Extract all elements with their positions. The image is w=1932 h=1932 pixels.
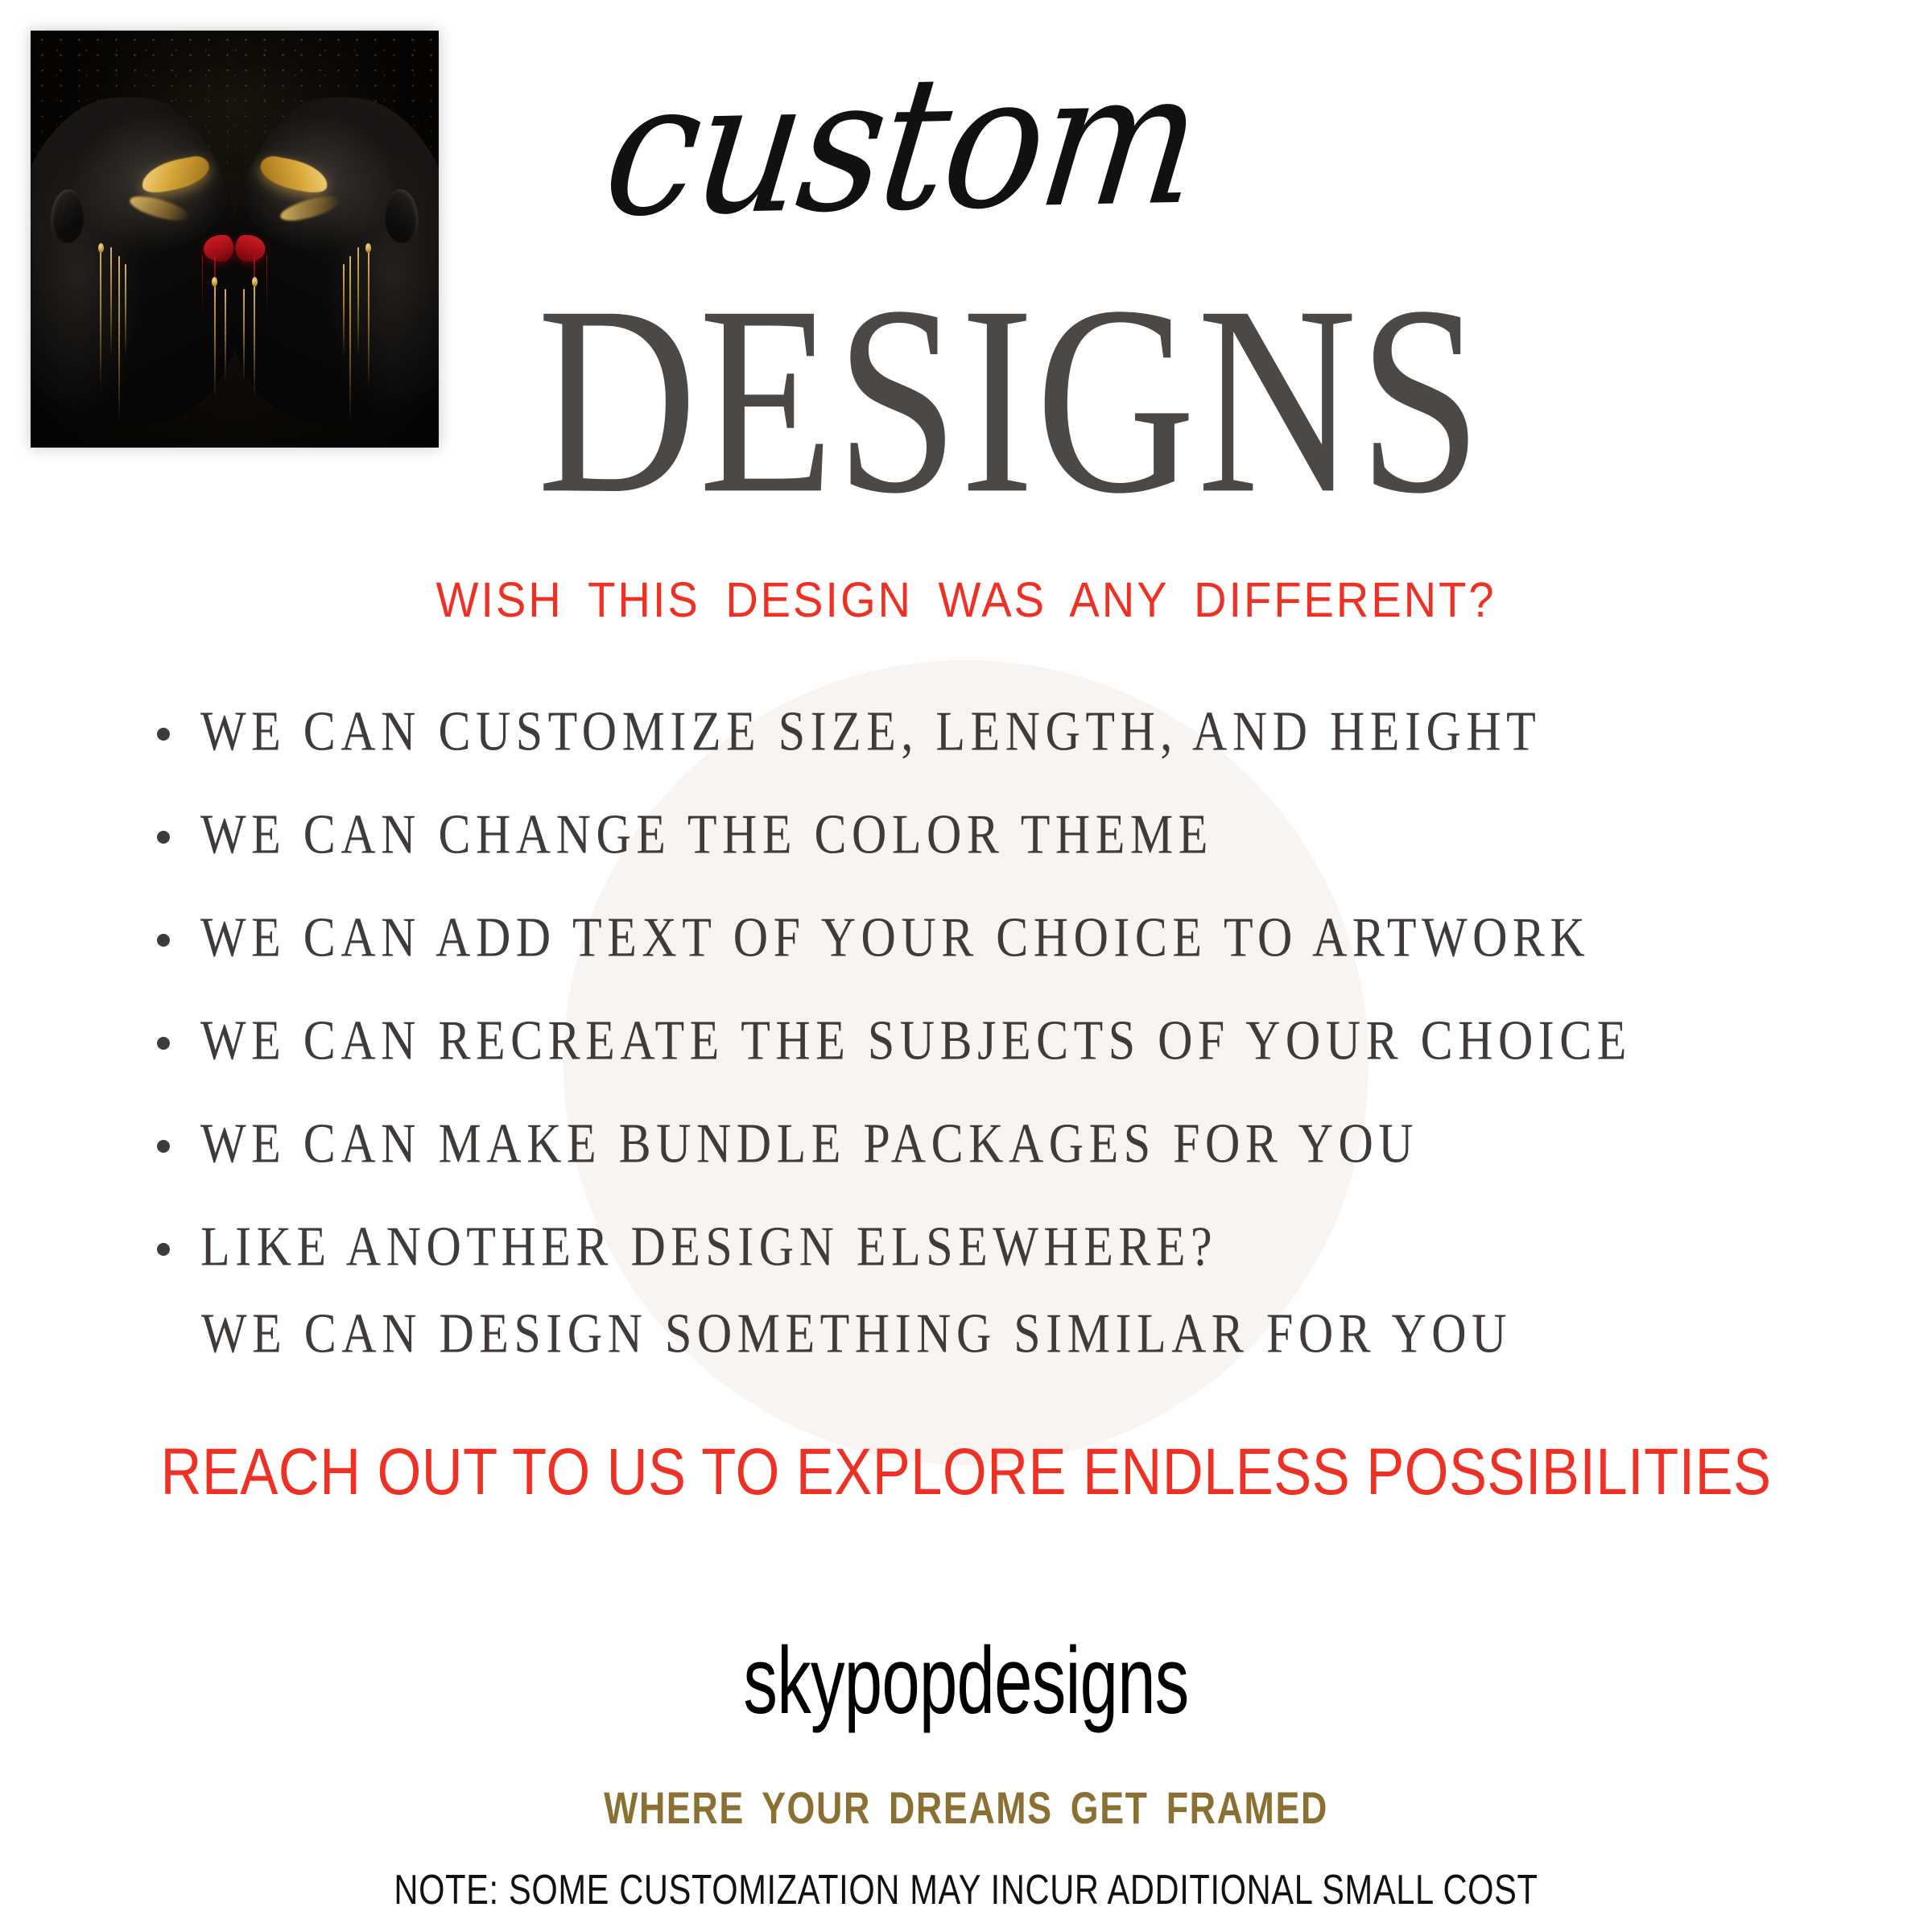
brand-tagline: WHERE YOUR DREAMS GET FRAMED	[193, 1785, 1739, 1831]
bullet-dot-icon	[157, 1243, 170, 1256]
artwork-red-lip-left	[204, 235, 233, 262]
feature-list: WE CAN CUSTOMIZE SIZE, LENGTH, AND HEIGH…	[157, 708, 1872, 1327]
bullet-dot-icon	[157, 934, 170, 947]
page-title: DESIGNS	[0, 266, 1932, 536]
list-item: WE CAN CUSTOMIZE SIZE, LENGTH, AND HEIGH…	[157, 708, 1872, 811]
script-heading-custom: custom	[439, 43, 1365, 247]
list-item-label: WE CAN ADD TEXT OF YOUR CHOICE TO ARTWOR…	[200, 906, 1590, 970]
artwork-ear-left	[51, 189, 84, 243]
footer-note: NOTE: SOME CUSTOMIZATION MAY INCUR ADDIT…	[193, 1869, 1739, 1911]
list-item: WE CAN ADD TEXT OF YOUR CHOICE TO ARTWOR…	[157, 914, 1872, 1018]
continuation-text: WE CAN DESIGN SOMETHING SIMILAR FOR YOU	[201, 1311, 1512, 1366]
list-item-label: WE CAN RECREATE THE SUBJECTS OF YOUR CHO…	[200, 1009, 1632, 1073]
list-item: WE CAN RECREATE THE SUBJECTS OF YOUR CHO…	[157, 1018, 1872, 1121]
list-item-label: WE CAN CUSTOMIZE SIZE, LENGTH, AND HEIGH…	[200, 700, 1541, 764]
bullet-dot-icon	[157, 1037, 170, 1050]
bullet-dot-icon	[157, 728, 170, 741]
list-item: WE CAN CHANGE THE COLOR THEME	[157, 811, 1872, 914]
bullet-dot-icon	[157, 831, 170, 844]
list-item-label: WE CAN CHANGE THE COLOR THEME	[200, 803, 1213, 867]
artwork-gold-blob	[98, 243, 104, 253]
bullet-dot-icon	[157, 1140, 170, 1153]
list-item: WE CAN MAKE BUNDLE PACKAGES FOR YOU	[157, 1121, 1872, 1224]
continuation-label: WE CAN DESIGN SOMETHING SIMILAR FOR YOU	[201, 1302, 1512, 1366]
call-to-action[interactable]: REACH OUT TO US TO EXPLORE ENDLESS POSSI…	[135, 1439, 1797, 1505]
brand-name: skypopdesigns	[232, 1633, 1700, 1728]
subtitle-question: WISH THIS DESIGN WAS ANY DIFFERENT?	[77, 576, 1855, 625]
list-item-label: WE CAN MAKE BUNDLE PACKAGES FOR YOU	[200, 1112, 1418, 1176]
list-item-label: LIKE ANOTHER DESIGN ELSEWHERE?	[200, 1215, 1217, 1279]
